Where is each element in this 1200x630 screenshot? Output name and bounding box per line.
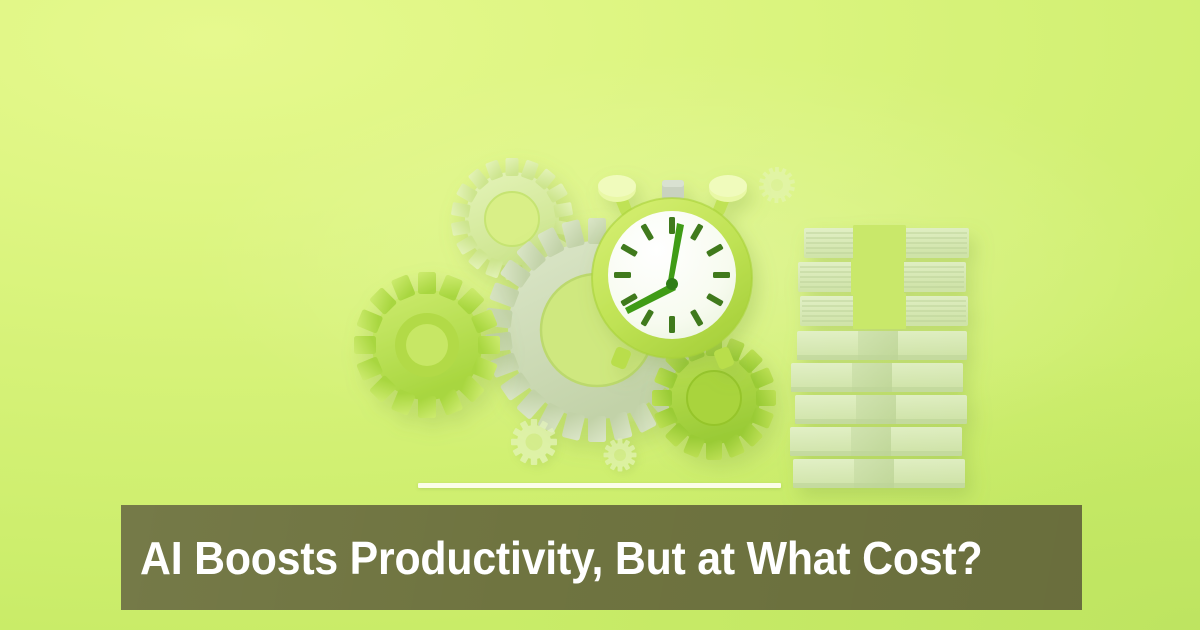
money-stack xyxy=(790,225,969,488)
money-block xyxy=(790,427,962,456)
divider-rule xyxy=(418,483,781,488)
clock-button xyxy=(662,180,684,200)
money-block-group xyxy=(790,331,967,488)
money-block xyxy=(795,395,967,424)
money-bundle-band-group xyxy=(798,225,969,329)
money-block xyxy=(791,363,963,392)
clock-center-pin xyxy=(666,278,678,290)
gear-small-bottom-right xyxy=(604,439,637,472)
money-block xyxy=(793,459,965,488)
money-block xyxy=(797,331,967,360)
gear-small-top-right xyxy=(759,167,795,203)
gear-left-mid xyxy=(354,272,500,418)
money-bundle xyxy=(800,293,968,329)
title-banner: AI Boosts Productivity, But at What Cost… xyxy=(121,505,1082,610)
money-bundle xyxy=(798,259,966,295)
page-title: AI Boosts Productivity, But at What Cost… xyxy=(140,535,982,581)
money-bundle xyxy=(804,225,969,261)
banner-card: AI Boosts Productivity, But at What Cost… xyxy=(0,0,1200,630)
